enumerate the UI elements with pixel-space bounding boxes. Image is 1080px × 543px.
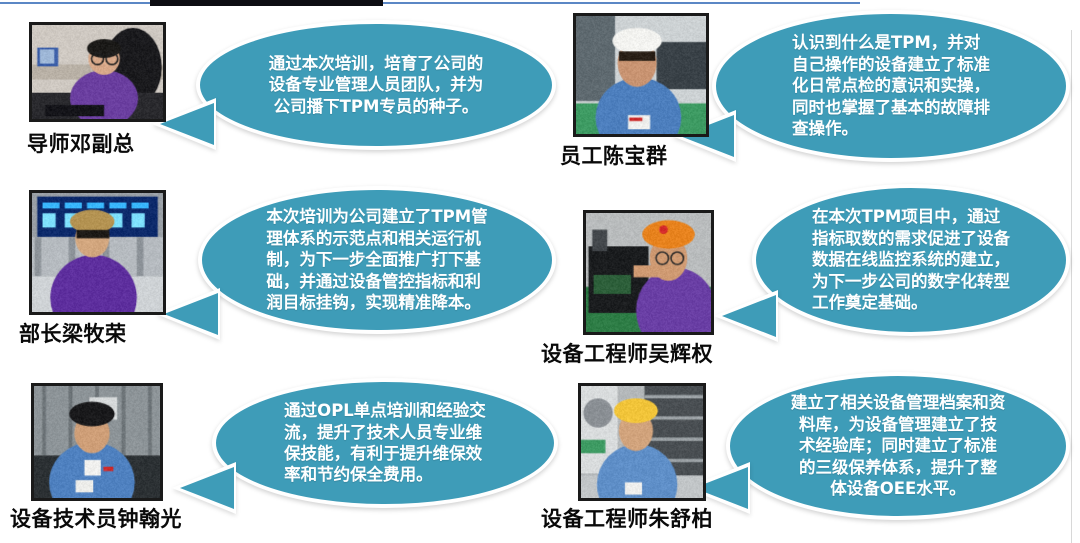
top-black-bar — [150, 0, 383, 6]
photo-frame-liang — [29, 190, 166, 315]
slide-canvas: 通过本次培训，培育了公司的 设备专业管理人员团队，并为 公司播下TPM专员的种子… — [0, 0, 1080, 543]
speech-bubble-liang: 本次培训为公司建立了TPM管 理体系的示范点和相关运行机 制，为下一步全面推广打… — [198, 186, 556, 334]
person-name-chen: 员工陈宝群 — [560, 140, 668, 170]
quote-text-zhong: 通过OPL单点培训和经验交 流，提升了技术人员专业维 保技能，有利于提升维保效 … — [278, 400, 492, 486]
speech-bubble-wu: 在本次TPM项目中，通过 指标取数的需求促进了设备 数据在线监控系统的建立， 为… — [752, 184, 1070, 336]
person-name-zhu: 设备工程师朱舒柏 — [541, 503, 713, 533]
person-name-deng: 导师邓副总 — [27, 128, 135, 158]
tail-fill — [180, 467, 234, 509]
right-edge-divider — [1071, 4, 1072, 543]
photo-chen — [573, 13, 709, 137]
speech-bubble-zhong: 通过OPL单点培训和经验交 流，提升了技术人员专业维 保技能，有利于提升维保效 … — [212, 378, 558, 508]
quote-text-liang: 本次培训为公司建立了TPM管 理体系的示范点和相关运行机 制，为下一步全面推广打… — [260, 206, 493, 313]
photo-zhong — [31, 383, 163, 501]
tail-fill — [164, 293, 218, 335]
person-name-liang: 部长梁牧荣 — [19, 318, 127, 348]
quote-text-deng: 通过本次培训，培育了公司的 设备专业管理人员团队，并为 公司播下TPM专员的种子… — [263, 53, 490, 117]
person-name-zhong: 设备技术员钟翰光 — [10, 503, 182, 533]
photo-frame-deng — [29, 22, 166, 122]
quote-text-wu: 在本次TPM项目中，通过 指标取数的需求促进了设备 数据在线监控系统的建立， 为… — [806, 206, 1016, 313]
photo-frame-zhong — [31, 383, 163, 501]
person-name-wu: 设备工程师吴辉权 — [541, 338, 713, 368]
photo-deng — [29, 22, 166, 122]
speech-bubble-deng: 通过本次培训，培育了公司的 设备专业管理人员团队，并为 公司播下TPM专员的种子… — [196, 20, 556, 150]
photo-frame-wu — [583, 210, 714, 335]
tail-fill — [160, 103, 214, 145]
speech-bubble-chen: 认识到什么是TPM，并对 自己操作的设备建立了标准 化日常点检的意识和实操， 同… — [712, 10, 1070, 162]
photo-liang — [29, 190, 166, 315]
photo-frame-chen — [573, 13, 709, 137]
quote-text-chen: 认识到什么是TPM，并对 自己操作的设备建立了标准 化日常点检的意识和实操， 同… — [786, 32, 996, 139]
tail-fill — [722, 295, 776, 337]
photo-frame-zhu — [578, 383, 706, 501]
quote-text-zhu: 建立了相关设备管理档案和资 料库，为设备管理建立了技 术经验库；同时建立了标准 … — [785, 392, 1012, 499]
speech-bubble-zhu: 建立了相关设备管理档案和资 料库，为设备管理建立了技 术经验库；同时建立了标准 … — [726, 372, 1070, 520]
photo-zhu — [578, 383, 706, 501]
photo-wu — [583, 210, 714, 335]
